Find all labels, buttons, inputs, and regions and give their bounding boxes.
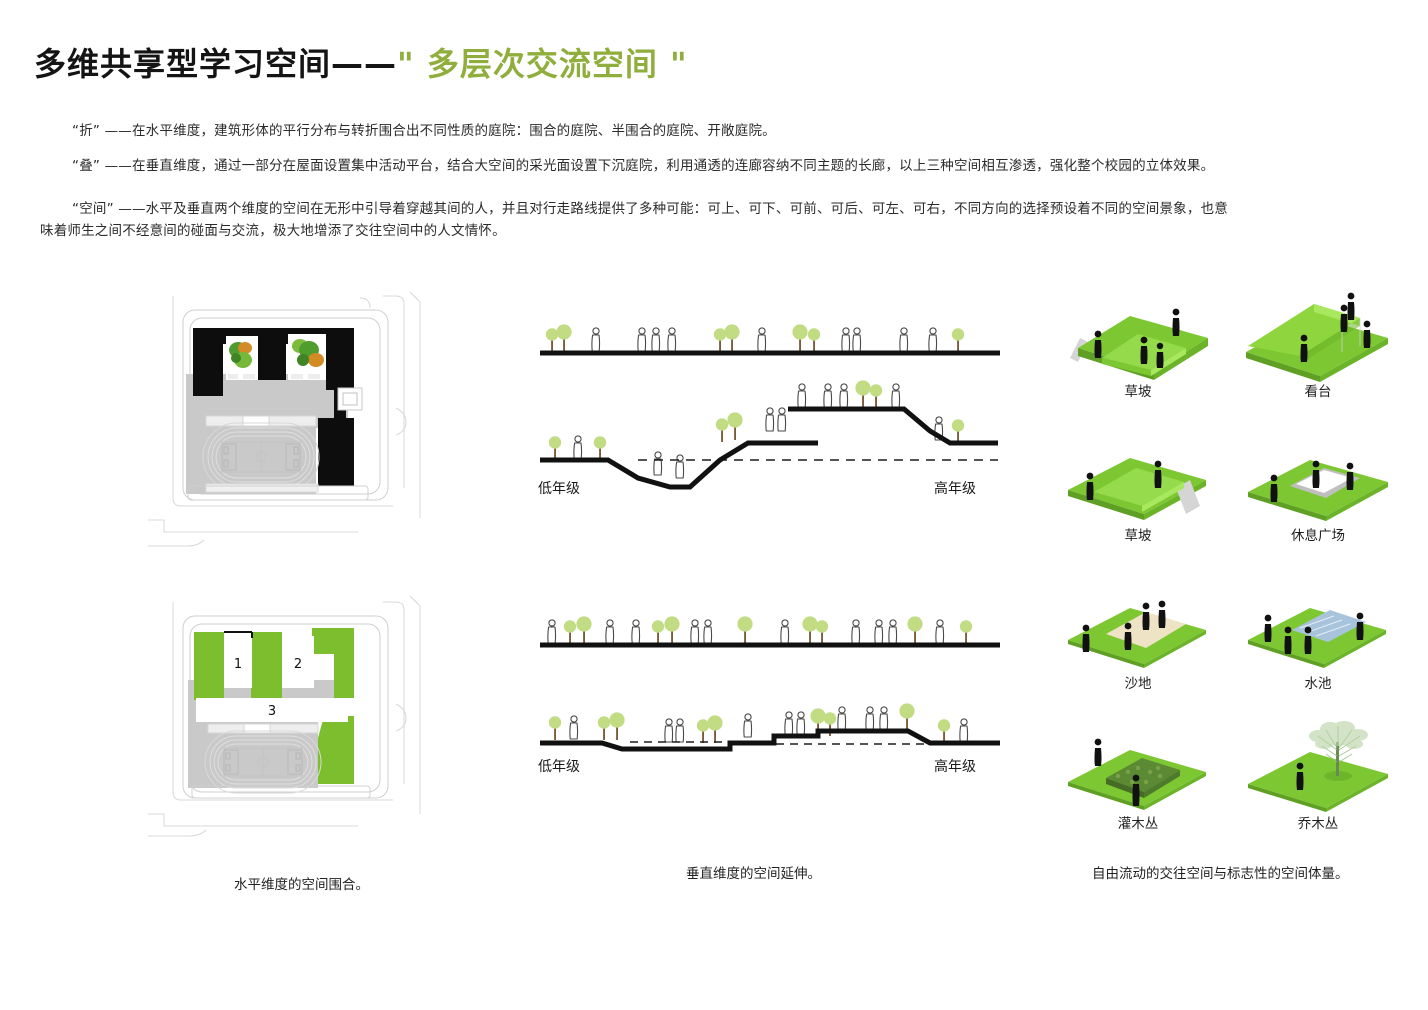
tile-grandstand: 看台	[1238, 286, 1398, 418]
section2-upper-flat	[540, 616, 1000, 645]
tile-label-tree-cluster: 乔木丛	[1238, 812, 1398, 832]
title-quote-close: "	[670, 45, 688, 83]
section-bottom-label-upper-grade: 高年级	[934, 756, 976, 776]
iso-figures	[1297, 763, 1304, 790]
tile-label-grass-slope-a: 草坡	[1058, 380, 1218, 400]
tile-grass-slope-a: 草坡	[1058, 286, 1218, 418]
section-bottom-label-lower-grade: 低年级	[538, 756, 580, 776]
presentation-board: 多维共享型学习空间——" 多层次交流空间 " “折” ——在水平维度，建筑形体的…	[0, 0, 1428, 1010]
section2-lower-vegetation	[549, 703, 968, 743]
tile-grass-slope-b: 草坡	[1058, 430, 1218, 562]
caption-middle: 垂直维度的空间延伸。	[686, 862, 821, 882]
tile-sand-pit: 沙地	[1058, 578, 1218, 710]
tile-label-grandstand: 看台	[1238, 380, 1398, 400]
section-upper-vegetation	[546, 324, 964, 352]
paragraph-space: “空间” ——水平及垂直两个维度的空间在无形中引导着穿越其间的人，并且对行走路线…	[72, 198, 1402, 242]
iso-tree-cluster	[1248, 752, 1388, 812]
tile-water-pool: 水池	[1238, 578, 1398, 710]
paragraph-fold: “折” ——在水平维度，建筑形体的平行分布与转折围合出不同性质的庭院：围合的庭院…	[72, 120, 1402, 142]
tile-shrub-cluster: 灌木丛	[1058, 718, 1218, 850]
section-upper-platform-line	[788, 409, 998, 443]
courtyard-render-1	[226, 336, 258, 380]
tile-label-shrub-cluster: 灌木丛	[1058, 812, 1218, 832]
site-plan-bottom: 1 2 3	[148, 588, 438, 838]
section-upper-flat	[540, 324, 1000, 353]
courtyard-number-2: 2	[294, 657, 302, 672]
tile-rest-plaza: 休息广场	[1238, 430, 1398, 562]
paragraph-stack: “叠” ——在垂直维度，通过一部分在屋面设置集中活动平台，结合大空间的采光面设置…	[72, 155, 1402, 177]
iso-grass-slope-a	[1070, 316, 1208, 380]
page-title-main: 多维共享型学习空间——	[34, 45, 397, 83]
title-quote-open: "	[397, 45, 415, 83]
courtyard-render-2	[288, 334, 326, 380]
section2-lower-profile	[540, 703, 1000, 749]
page-title: 多维共享型学习空间——" 多层次交流空间 "	[34, 48, 688, 80]
courtyard-number-3: 3	[268, 704, 276, 719]
caption-left: 水平维度的空间围合。	[234, 873, 369, 893]
section-top-label-upper-grade: 高年级	[934, 478, 976, 498]
courtyard-number-1: 1	[234, 657, 242, 672]
caption-right: 自由流动的交往空间与标志性的空间体量。	[1092, 862, 1349, 882]
site-plan-top	[148, 288, 438, 558]
tile-tree-cluster: 乔木丛	[1238, 718, 1398, 850]
section-top-label-lower-grade: 低年级	[538, 478, 580, 498]
section-diagram-top: 低年级 高年级	[530, 300, 1010, 500]
page-title-accent: 多层次交流空间	[427, 45, 658, 83]
paragraph-space-line2: 味着师生之间不经意间的碰面与交流，极大地增添了交往空间中的人文情怀。	[40, 220, 1402, 242]
plan-service-box	[338, 388, 362, 410]
tile-label-grass-slope-b: 草坡	[1058, 524, 1218, 544]
tile-label-water-pool: 水池	[1238, 672, 1398, 692]
section-lower-profile	[540, 380, 998, 487]
section2-groundline-a	[540, 743, 734, 749]
paragraph-space-line1: “空间” ——水平及垂直两个维度的空间在无形中引导着穿越其间的人，并且对行走路线…	[72, 201, 1228, 217]
tile-label-rest-plaza: 休息广场	[1238, 524, 1398, 544]
iso-rest-plaza	[1248, 460, 1388, 521]
section-diagram-bottom: 低年级 高年级	[530, 592, 1010, 777]
section2-upper-vegetation	[548, 616, 972, 644]
tile-label-sand-pit: 沙地	[1058, 672, 1218, 692]
